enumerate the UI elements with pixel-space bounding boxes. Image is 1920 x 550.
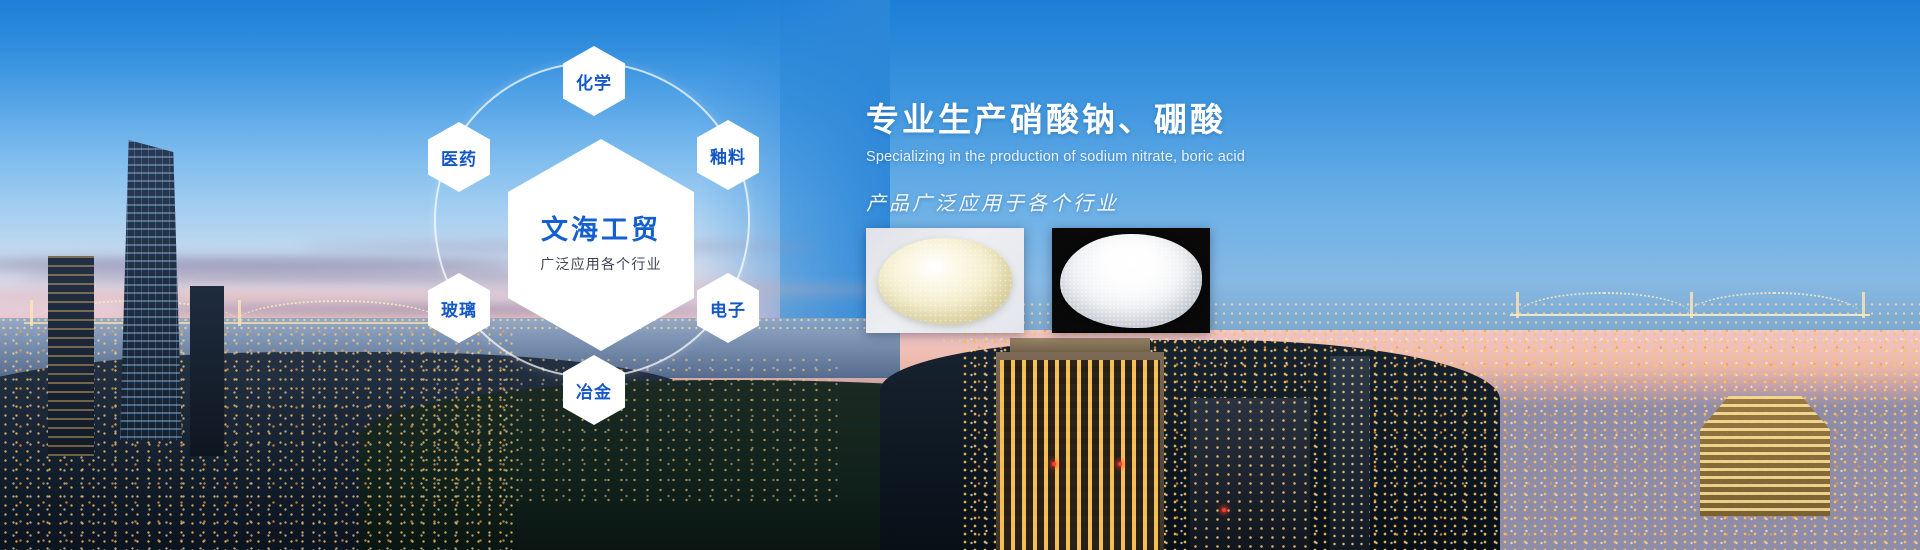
- product-photo-boric-acid: [1052, 228, 1210, 333]
- bridge-cable: [1516, 292, 1692, 316]
- product-photo-group: [866, 228, 1210, 333]
- suspension-bridge-right: [1510, 292, 1870, 322]
- aviation-warning-light: [1222, 508, 1226, 512]
- hexagon-label: 电子: [710, 296, 746, 321]
- hexagon-label: 医药: [441, 145, 477, 170]
- skyscraper-gold-facade: [996, 352, 1164, 550]
- bridge-tower: [238, 300, 241, 326]
- skyscraper-left: [120, 140, 182, 440]
- bridge-tower: [1690, 292, 1693, 318]
- bridge-tower: [1862, 292, 1865, 318]
- tagline: 产品广泛应用于各个行业: [866, 187, 1506, 216]
- brand-name: 文海工贸: [541, 216, 661, 246]
- powder-heap: [878, 238, 1012, 324]
- aviation-warning-light: [1118, 462, 1122, 466]
- brand-slogan: 广泛应用各个行业: [540, 254, 662, 274]
- hexagon-label: 冶金: [576, 378, 612, 403]
- hexagon-label: 化学: [576, 69, 612, 94]
- skyscraper-slim-right: [1330, 356, 1370, 550]
- headline-block: 专业生产硝酸钠、硼酸 Specializing in the productio…: [866, 100, 1506, 216]
- illuminated-rooftop: [1700, 396, 1830, 516]
- promo-banner: 化学 釉料 电子 冶金 玻璃 医药 文海工贸 广泛应用各个行业 专业生产硝酸钠、…: [0, 0, 1920, 550]
- skyscraper-dark: [1190, 398, 1310, 550]
- bridge-tower: [1516, 292, 1519, 318]
- bridge-cable: [234, 300, 444, 324]
- hexagon-label: 釉料: [710, 143, 746, 168]
- headline-chinese: 专业生产硝酸钠、硼酸: [866, 100, 1506, 140]
- powder-heap: [1060, 234, 1202, 328]
- aviation-warning-light: [1052, 462, 1056, 466]
- skyscraper-left-small: [48, 256, 94, 456]
- bridge-cable: [1686, 292, 1862, 316]
- headline-english: Specializing in the production of sodium…: [866, 149, 1506, 165]
- product-photo-sodium-nitrate: [866, 228, 1024, 333]
- hexagon-label: 玻璃: [441, 296, 477, 321]
- skyscraper-left-slim: [190, 286, 224, 456]
- bridge-tower: [30, 300, 33, 326]
